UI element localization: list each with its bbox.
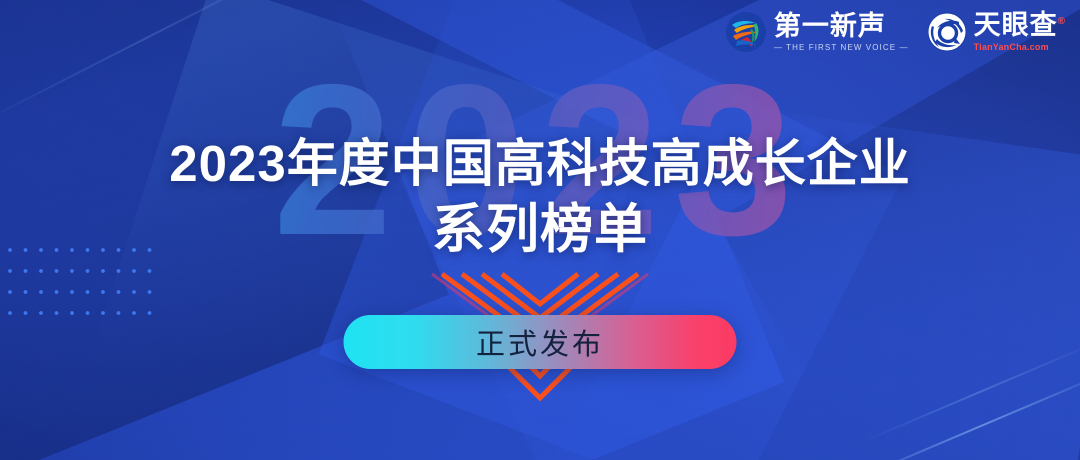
logo-tianyancha-name-cn: 天眼查 — [974, 10, 1058, 40]
logo-first-new-voice-text: 第一新声 — THE FIRST NEW VOICE — — [774, 13, 909, 52]
registered-trademark-icon: ® — [1058, 16, 1066, 27]
publish-button[interactable]: 正式发布 — [344, 315, 737, 369]
first-voice-swirl-icon — [725, 11, 767, 53]
logo-tianyancha-name: 天眼查® — [974, 12, 1066, 39]
logo-first-new-voice[interactable]: 第一新声 — THE FIRST NEW VOICE — — [725, 11, 909, 53]
logo-tianyancha-text: 天眼查® TianYanCha.com — [974, 12, 1066, 52]
logo-tianyancha[interactable]: 天眼查® TianYanCha.com — [927, 12, 1066, 52]
tianyancha-aperture-icon — [927, 12, 967, 52]
logo-bar: 第一新声 — THE FIRST NEW VOICE — 天眼查® TianYa… — [725, 11, 1066, 53]
promo-banner: 2023 2023年度中国高科技高成长企业 系列榜单 正式发布 — [0, 0, 1080, 460]
logo-first-new-voice-tagline: — THE FIRST NEW VOICE — — [774, 44, 909, 52]
logo-tianyancha-tagline: TianYanCha.com — [974, 43, 1066, 52]
publish-button-label: 正式发布 — [476, 321, 604, 363]
logo-first-new-voice-name: 第一新声 — [774, 13, 909, 40]
background-gradient — [0, 0, 1080, 460]
